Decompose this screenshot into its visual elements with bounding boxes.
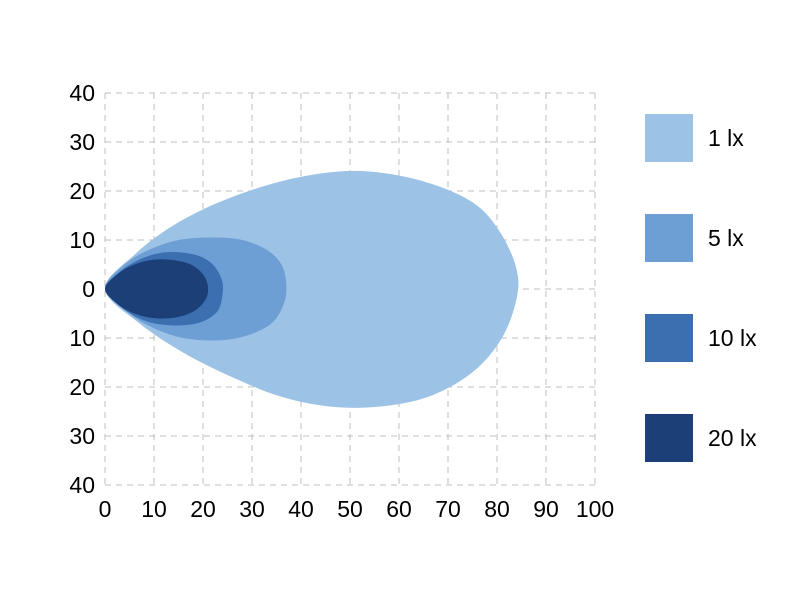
legend-item[interactable]: 1 lx <box>645 112 795 164</box>
contour-shapes <box>105 171 518 408</box>
legend-label: 5 lx <box>708 227 744 250</box>
y-tick-label: 20 <box>49 376 95 399</box>
x-tick-label: 100 <box>560 498 630 521</box>
y-tick-label: 40 <box>49 474 95 497</box>
y-tick-label: 10 <box>49 229 95 252</box>
light-distribution-chart: 40302010010203040 0102030405060708090100… <box>0 0 800 600</box>
x-axis-tick-labels: 0102030405060708090100 <box>0 498 800 528</box>
y-tick-label: 40 <box>49 82 95 105</box>
legend-label: 10 lx <box>708 327 757 350</box>
chart-legend: 1 lx5 lx10 lx20 lx <box>645 112 795 472</box>
y-tick-label: 30 <box>49 131 95 154</box>
legend-label: 20 lx <box>708 427 757 450</box>
legend-swatch <box>645 414 693 462</box>
y-tick-label: 10 <box>49 327 95 350</box>
legend-label: 1 lx <box>708 127 744 150</box>
plot-canvas <box>105 93 595 485</box>
y-tick-label: 30 <box>49 425 95 448</box>
legend-swatch <box>645 114 693 162</box>
y-tick-label: 0 <box>49 278 95 301</box>
legend-swatch <box>645 214 693 262</box>
legend-item[interactable]: 10 lx <box>645 312 795 364</box>
legend-item[interactable]: 5 lx <box>645 212 795 264</box>
y-tick-label: 20 <box>49 180 95 203</box>
plot-area <box>105 93 595 485</box>
legend-item[interactable]: 20 lx <box>645 412 795 464</box>
legend-swatch <box>645 314 693 362</box>
